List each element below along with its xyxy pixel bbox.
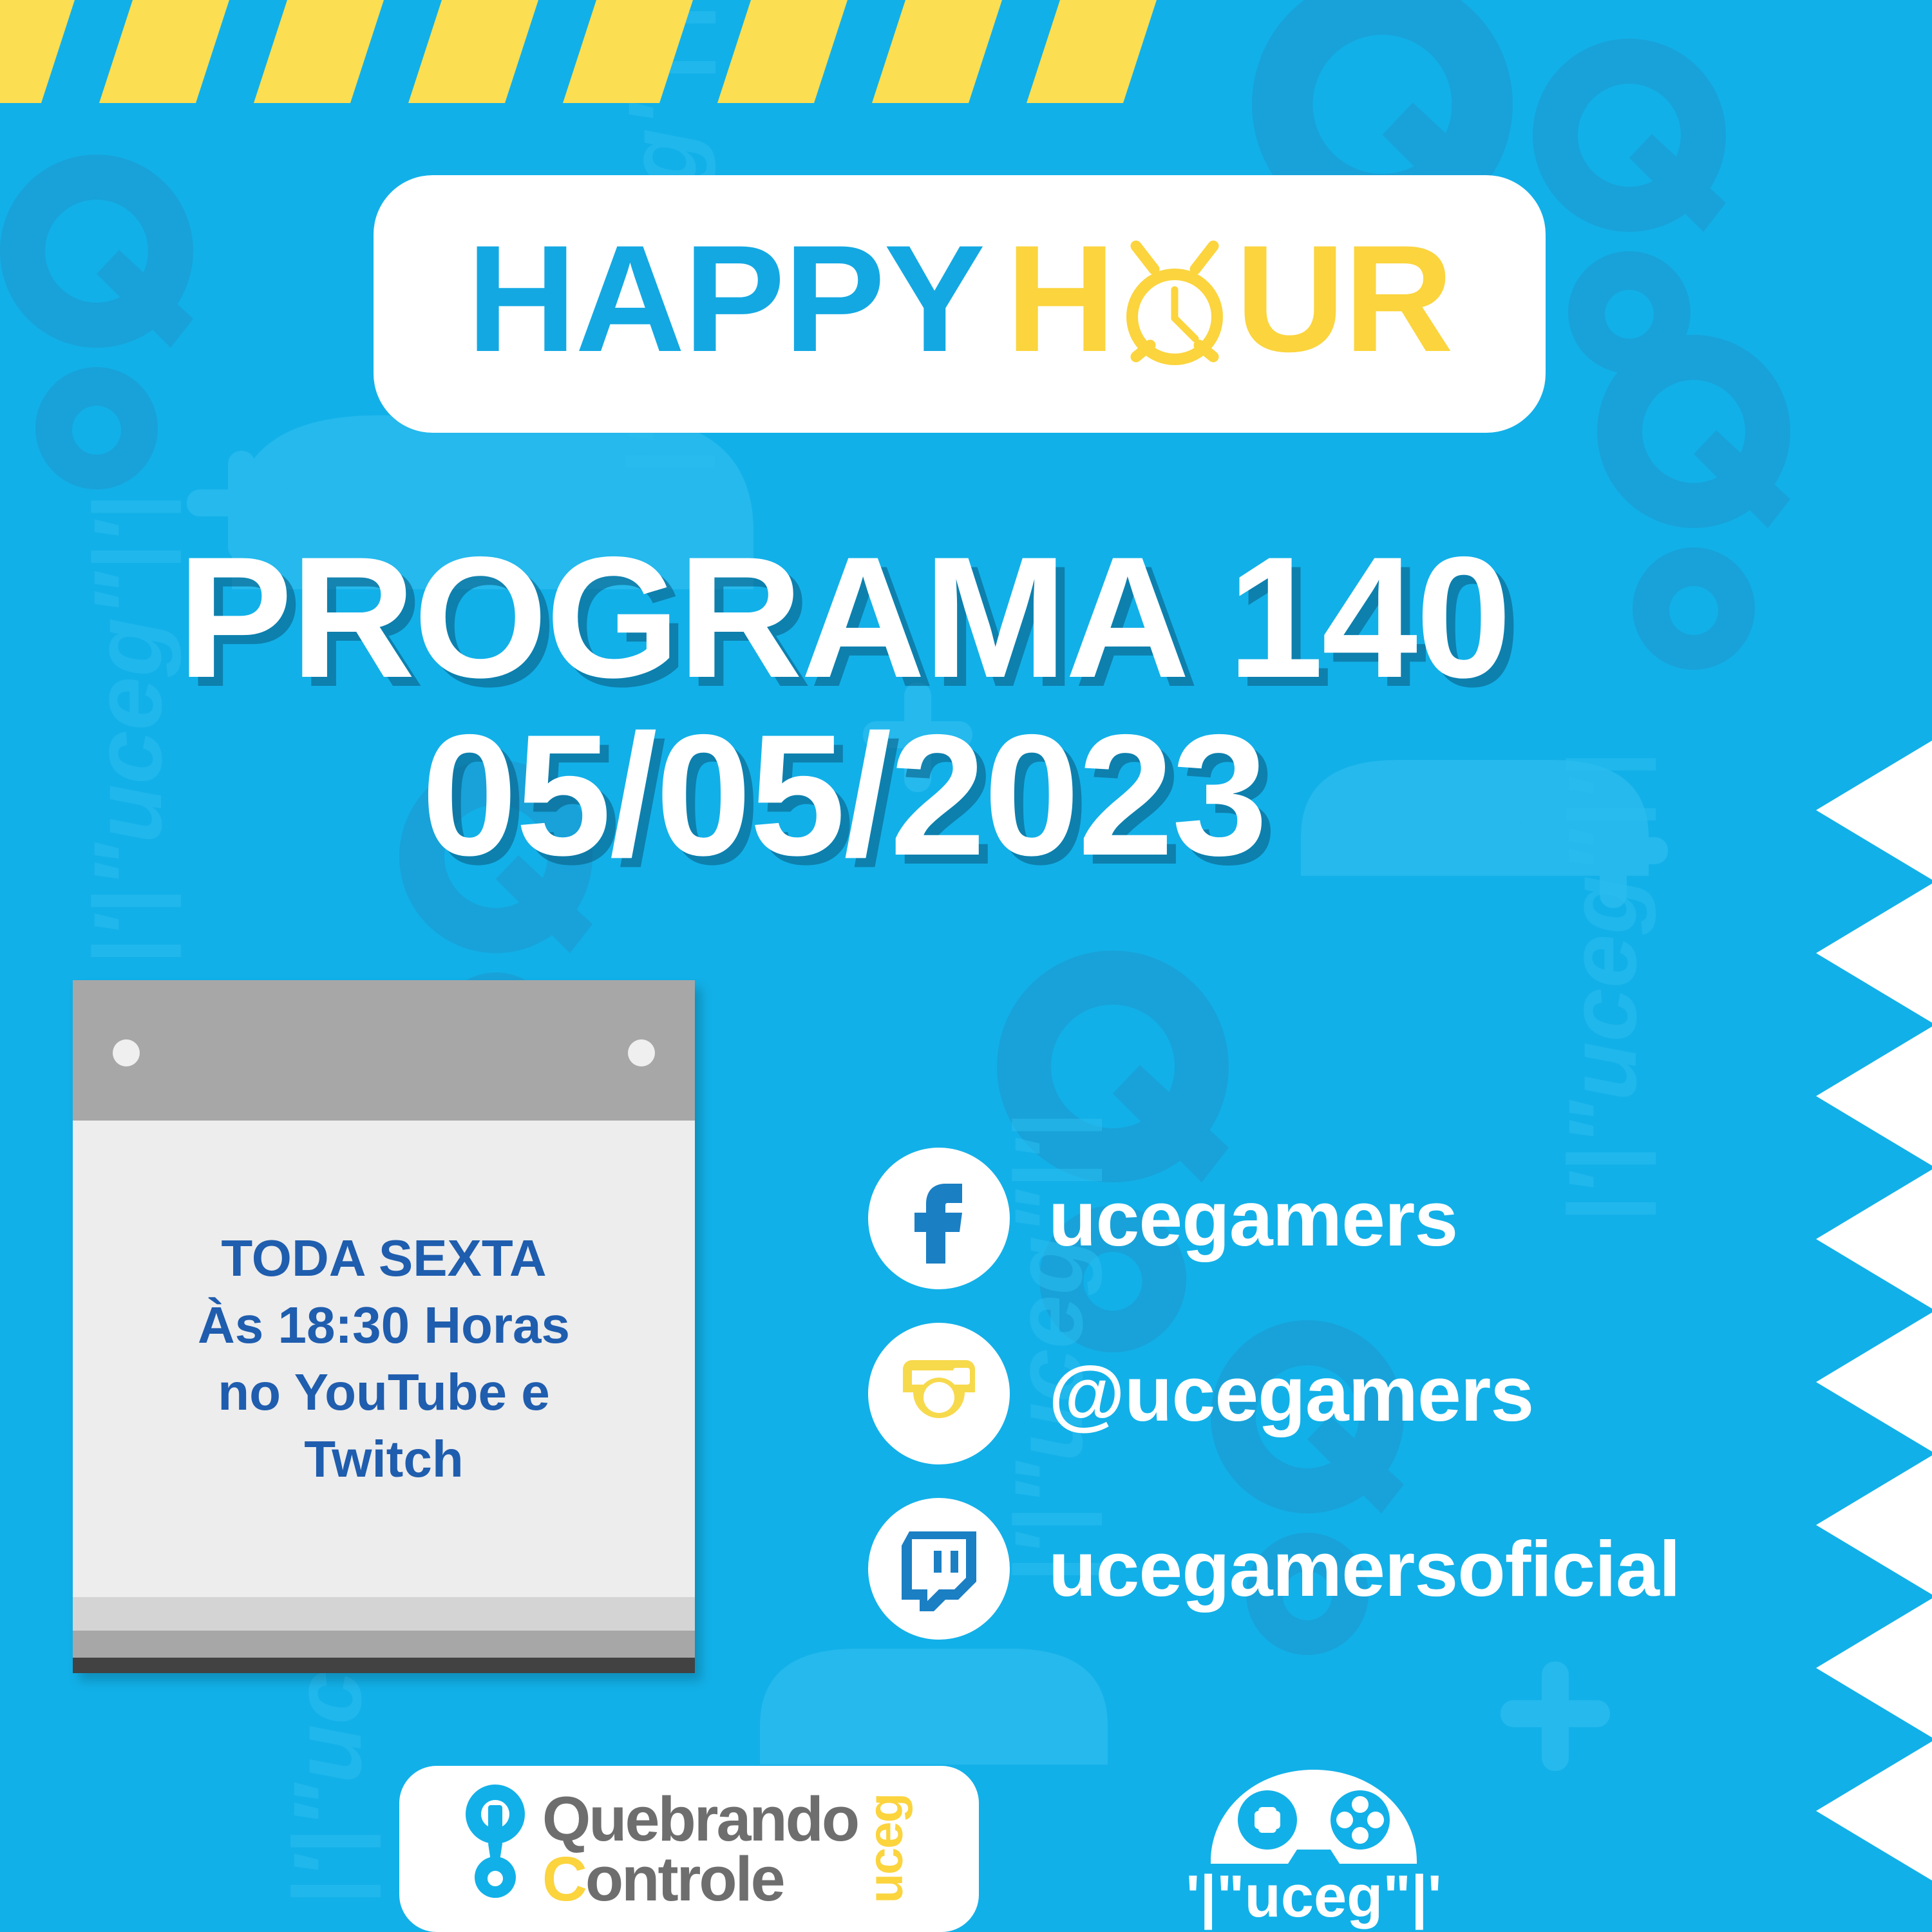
stripe	[709, 0, 856, 103]
gamepad-icon	[1211, 1770, 1417, 1864]
calendar-line-2: Às 18:30 Horas	[198, 1292, 570, 1359]
zigzag-triangle	[1816, 1598, 1932, 1738]
program-number-line: PROGRAMA 140	[0, 528, 1687, 706]
stripe	[245, 0, 392, 103]
uceg-wordmark: |'|"uceg"|'|	[1185, 1864, 1443, 1930]
zigzag-triangle	[1816, 1312, 1932, 1452]
logo-line-quebrando: Quebrando	[542, 1789, 858, 1849]
zigzag-triangle	[1816, 884, 1932, 1023]
quebrando-controle-logo[interactable]: Quebrando Controle uceg	[399, 1766, 979, 1932]
logo-line-controle: Controle	[542, 1849, 858, 1909]
uceg-logo[interactable]: |'|"uceg"|'|	[1185, 1765, 1443, 1932]
stripe	[864, 0, 1010, 103]
stripe	[554, 0, 701, 103]
calendar-band-light	[73, 1597, 695, 1631]
twitch-handle[interactable]: ucegamersoficial	[1048, 1524, 1680, 1614]
caution-stripes-decoration	[0, 0, 1236, 103]
stripe	[0, 0, 83, 103]
social-row-instagram[interactable]: @ucegamers	[868, 1323, 1680, 1464]
facebook-icon[interactable]	[868, 1148, 1010, 1289]
poster-canvas: |'|"uceg"|'| |'|"uceg"|'| |'|"uceg"|'| |…	[0, 0, 1932, 1932]
zigzag-triangle	[1816, 741, 1932, 880]
stripe	[400, 0, 547, 103]
broken-controller-icon	[457, 1785, 533, 1913]
logo-ontrole: ontrole	[585, 1844, 784, 1914]
calendar-band-medium	[73, 1631, 695, 1658]
instagram-icon[interactable]	[868, 1323, 1010, 1464]
hour-word-prefix: H	[1006, 223, 1114, 375]
happy-hour-badge: HAPPY H	[374, 175, 1546, 433]
zigzag-triangle	[1816, 1027, 1932, 1166]
calendar-hole-left	[113, 1039, 140, 1066]
stripe	[1018, 0, 1165, 103]
page-title: PROGRAMA 140 05/05/2023	[0, 528, 1687, 884]
calendar-line-1: TODA SEXTA	[221, 1225, 546, 1292]
schedule-calendar-card: TODA SEXTA Às 18:30 Horas no YouTube e T…	[73, 980, 695, 1673]
calendar-header-bar	[73, 980, 695, 1121]
hour-word: H UR	[1006, 223, 1452, 375]
social-links-list: ucegamers @ucegamers	[868, 1148, 1680, 1640]
instagram-handle[interactable]: @ucegamers	[1048, 1349, 1533, 1439]
social-row-facebook[interactable]: ucegamers	[868, 1148, 1680, 1289]
calendar-body: TODA SEXTA Às 18:30 Horas no YouTube e T…	[73, 1121, 695, 1597]
calendar-hole-right	[628, 1039, 655, 1066]
zigzag-edge-decoration	[1784, 741, 1932, 1874]
logo-c-letter: C	[542, 1844, 585, 1914]
calendar-line-3: no YouTube e	[218, 1359, 550, 1426]
zigzag-triangle	[1816, 1741, 1932, 1880]
happy-word: HAPPY	[467, 223, 984, 375]
alarm-clock-icon	[1114, 223, 1235, 375]
stripe	[91, 0, 238, 103]
hour-word-suffix: UR	[1235, 223, 1452, 375]
facebook-handle[interactable]: ucegamers	[1048, 1173, 1457, 1264]
logo-vertical-uceg: uceg	[862, 1794, 911, 1903]
calendar-line-4: Twitch	[304, 1426, 463, 1493]
zigzag-triangle	[1816, 1455, 1932, 1595]
program-date-line: 05/05/2023	[0, 706, 1687, 884]
twitch-icon[interactable]	[868, 1498, 1010, 1640]
social-row-twitch[interactable]: ucegamersoficial	[868, 1498, 1680, 1640]
calendar-band-dark	[73, 1658, 695, 1673]
zigzag-triangle	[1816, 1170, 1932, 1309]
